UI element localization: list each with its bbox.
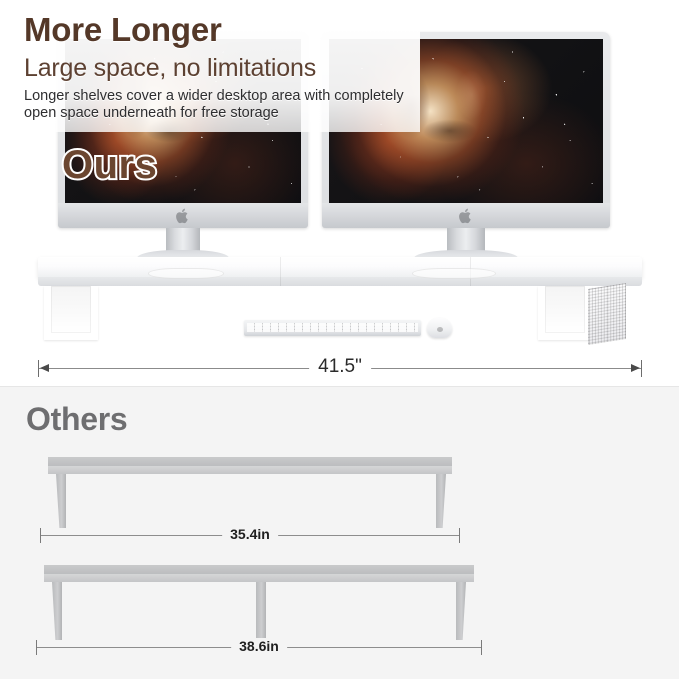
others-title: Others [26, 401, 127, 438]
ours-section: Ours 41.5" More Longer Large space, no l… [0, 0, 679, 387]
mouse [427, 318, 452, 338]
shelf-seam-left [280, 257, 281, 286]
others-shelf-b-leg-left [52, 582, 62, 640]
ours-dimension-label: 41.5" [309, 356, 371, 378]
keyboard-keys [247, 323, 418, 332]
ours-badge: Ours [62, 143, 157, 188]
dimension-cap-left [38, 360, 39, 377]
ours-shelf-leg-right [538, 286, 592, 340]
others-shelf-b-leg-center [256, 582, 266, 640]
dimension-cap-right [481, 640, 482, 655]
monitor-chin [322, 203, 610, 228]
monitor-chin [58, 203, 308, 228]
stand-pad-right [412, 268, 496, 279]
ours-shelf-mesh-panel [588, 283, 626, 345]
others-section: Others 35.4in 38.6in [0, 387, 679, 679]
page-subtitle: Large space, no limitations [24, 54, 316, 83]
dimension-cap-right [641, 360, 642, 377]
dimension-cap-left [40, 528, 41, 543]
others-shelf-a-front-edge [48, 466, 452, 474]
apple-logo-icon [459, 207, 474, 225]
leg-shading [51, 286, 91, 333]
others-shelf-a-leg-left [56, 474, 66, 528]
page-description: Longer shelves cover a wider desktop are… [24, 88, 416, 122]
others-shelf-a-dimension-label: 35.4in [222, 526, 278, 542]
others-shelf-a-dimension-line: 35.4in [40, 527, 460, 545]
stand-pad-left [148, 268, 224, 279]
others-shelf-b-surface [44, 565, 474, 574]
dimension-cap-left [36, 640, 37, 655]
dimension-arrow-right-icon [631, 364, 640, 372]
ours-dimension-line: 41.5" [38, 358, 642, 380]
apple-logo-icon [176, 207, 191, 225]
dimension-cap-right [459, 528, 460, 543]
page-title: More Longer [24, 11, 222, 49]
others-shelf-b-leg-right [456, 582, 466, 640]
ours-shelf-surface [38, 257, 642, 279]
ours-shelf-front-edge [38, 277, 642, 286]
header-block: More Longer Large space, no limitations … [0, 0, 420, 132]
others-shelf-b-front-edge [44, 574, 474, 582]
dimension-arrow-left-icon [40, 364, 49, 372]
others-shelf-a-surface [48, 457, 452, 466]
others-shelf-b-dimension-line: 38.6in [36, 639, 482, 657]
mouse-logo [437, 327, 443, 332]
ours-shelf-leg-left [44, 286, 98, 340]
others-shelf-a-leg-right [436, 474, 446, 528]
others-shelf-b-dimension-label: 38.6in [231, 638, 287, 654]
keyboard [244, 320, 421, 336]
leg-shading [545, 286, 585, 333]
